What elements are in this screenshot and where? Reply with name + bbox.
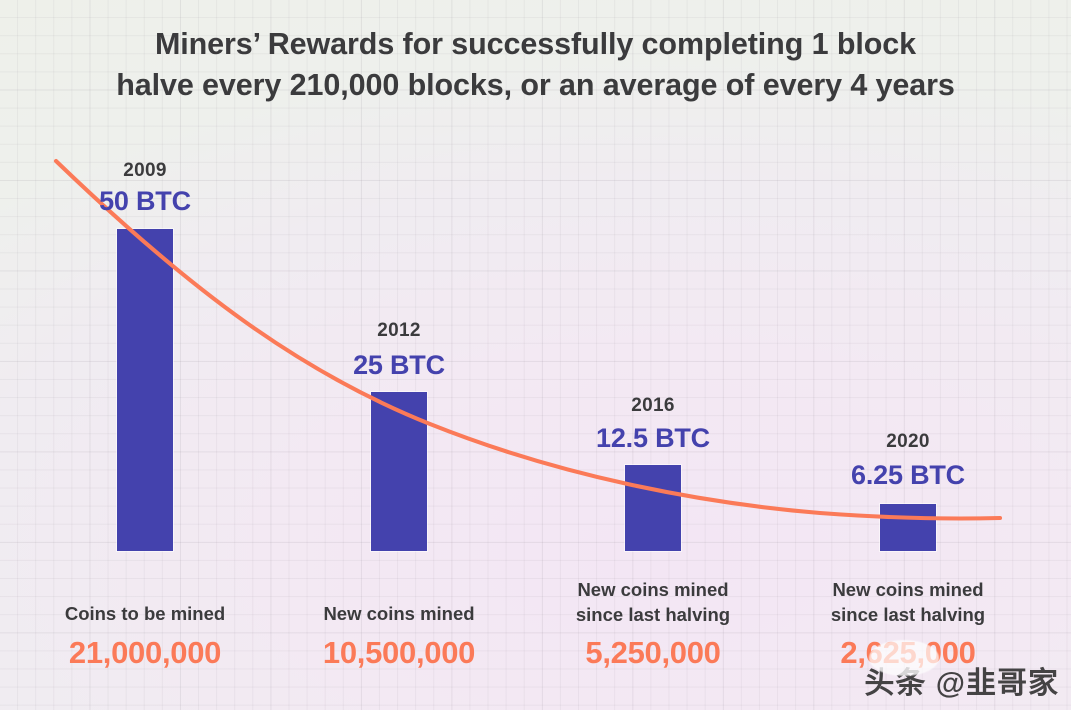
caption-2020: New coins mined since last halving xyxy=(783,577,1033,627)
year-label-2012: 2012 xyxy=(299,320,499,342)
year-label-2020: 2020 xyxy=(808,431,1008,453)
total-2012: 10,500,000 xyxy=(274,635,524,671)
total-2016: 5,250,000 xyxy=(528,635,778,671)
bar-2009 xyxy=(117,229,173,551)
reward-label-2012: 25 BTC xyxy=(299,350,499,381)
year-label-2009: 2009 xyxy=(45,160,245,182)
caption-2009: Coins to be mined xyxy=(20,601,270,626)
caption-2016: New coins mined since last halving xyxy=(528,577,778,627)
caption-2012: New coins mined xyxy=(274,601,524,626)
reward-label-2016: 12.5 BTC xyxy=(553,423,753,454)
bar-2020 xyxy=(880,504,936,551)
total-2009: 21,000,000 xyxy=(20,635,270,671)
infographic-canvas: Miners’ Rewards for successfully complet… xyxy=(0,0,1071,710)
watermark-blob-icon xyxy=(869,640,939,676)
reward-label-2020: 6.25 BTC xyxy=(808,460,1008,491)
bar-2016 xyxy=(625,465,681,551)
bar-2012 xyxy=(371,392,427,551)
year-label-2016: 2016 xyxy=(553,395,753,417)
watermark: 头条 @韭哥家 xyxy=(864,658,1059,702)
chart-plot-area: 2009 50 BTC Coins to be mined 21,000,000… xyxy=(0,0,1071,710)
reward-label-2009: 50 BTC xyxy=(45,186,245,217)
